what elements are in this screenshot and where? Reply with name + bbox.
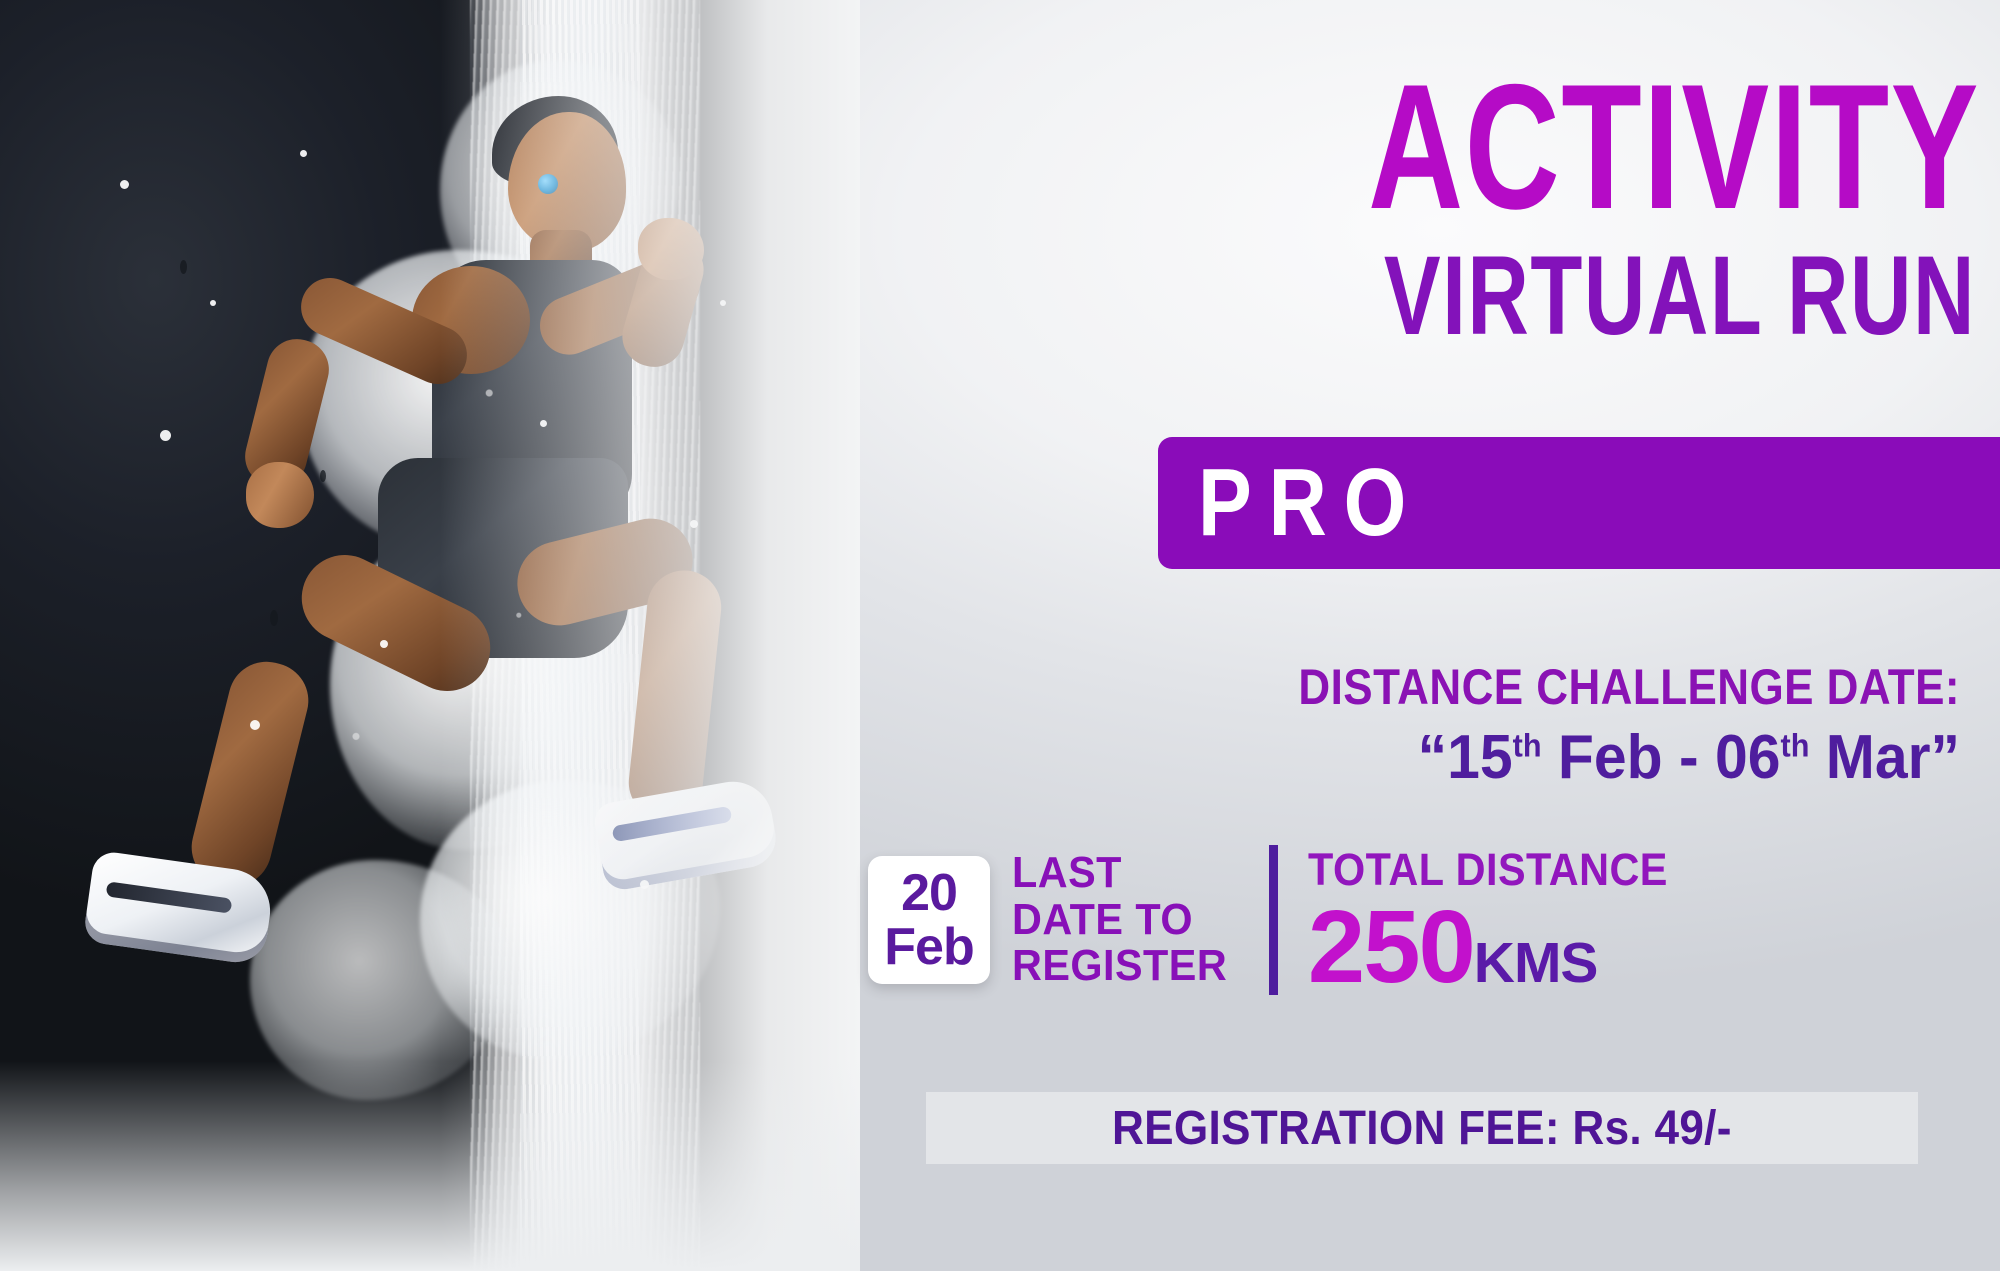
last-date-month: Feb — [884, 921, 973, 973]
water-droplet — [380, 640, 388, 648]
water-droplet-dark — [270, 610, 278, 626]
quote-close: ” — [1931, 723, 1960, 792]
end-day: 06 — [1715, 723, 1781, 792]
registration-fee-bar: REGISTRATION FEE: Rs. 49/- — [926, 1092, 1918, 1164]
start-ordinal: th — [1513, 727, 1542, 763]
last-date-card: 20 Feb — [868, 856, 990, 984]
total-distance-unit: KMS — [1474, 931, 1598, 995]
start-month: Feb — [1558, 723, 1663, 792]
runner-fist-back — [246, 462, 314, 528]
total-distance-block: TOTAL DISTANCE 250KMS — [1308, 844, 1960, 997]
runner-photo — [0, 0, 860, 1271]
runner-shin-back — [184, 654, 317, 895]
page-title-virtual-run: VIRTUAL RUN — [1113, 248, 1976, 344]
water-droplet-dark — [320, 470, 326, 482]
photo-bottom-fade — [0, 1061, 860, 1271]
end-ordinal: th — [1781, 727, 1810, 763]
pro-badge-label: PRO — [1198, 455, 1423, 551]
last-date-caption-line3: REGISTER — [1012, 943, 1227, 990]
last-date-caption-line1: LAST — [1012, 850, 1227, 897]
water-droplet — [120, 180, 129, 189]
last-date-day: 20 — [901, 867, 957, 919]
total-distance-label: TOTAL DISTANCE — [1308, 844, 1908, 896]
pro-badge: PRO — [1158, 437, 2000, 569]
challenge-date-value: “15th Feb - 06th Mar” — [896, 722, 1960, 793]
water-droplet — [300, 150, 307, 157]
date-separator: - — [1663, 723, 1715, 792]
water-droplet — [160, 430, 171, 441]
challenge-date-label: DISTANCE CHALLENGE DATE: — [974, 658, 1960, 716]
start-day: 15 — [1447, 723, 1513, 792]
registration-fee-text: REGISTRATION FEE: Rs. 49/- — [1112, 1101, 1732, 1156]
last-date-caption: LAST DATE TO REGISTER — [1012, 850, 1227, 990]
content-panel: ACTIVITY VIRTUAL RUN PRO DISTANCE CHALLE… — [840, 0, 2000, 1271]
end-month: Mar — [1826, 723, 1931, 792]
poster-root: ACTIVITY VIRTUAL RUN PRO DISTANCE CHALLE… — [0, 0, 2000, 1271]
water-droplet — [210, 300, 216, 306]
last-date-caption-line2: DATE TO — [1012, 897, 1227, 944]
vertical-divider — [1269, 845, 1278, 995]
stats-row: 20 Feb LAST DATE TO REGISTER TOTAL DISTA… — [868, 840, 1960, 1000]
page-title-activity: ACTIVITY — [1136, 72, 1980, 222]
total-distance-number: 250 — [1308, 889, 1474, 1004]
quote-open: “ — [1418, 723, 1447, 792]
total-distance-value: 250KMS — [1308, 898, 1960, 997]
water-droplet — [250, 720, 260, 730]
water-droplet-dark — [180, 260, 187, 274]
